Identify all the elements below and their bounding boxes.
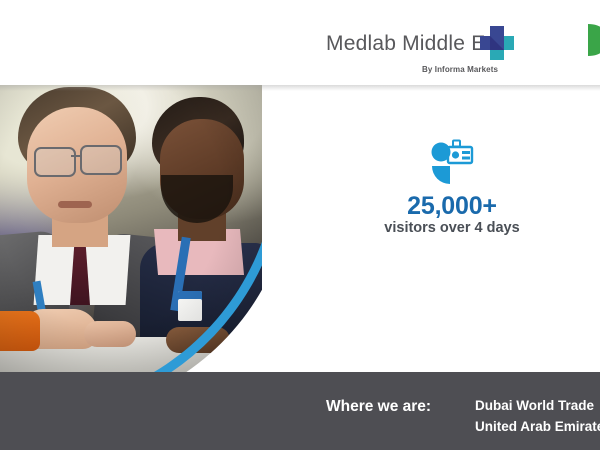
partner-leaf-icon <box>586 22 600 58</box>
stat-visitors-caption: visitors over 4 days <box>357 220 547 236</box>
stat-exhibitors-icon-wrap <box>547 131 600 193</box>
venue-address-line-1: Dubai World Trade <box>475 396 600 417</box>
medical-cross-icon <box>477 23 517 63</box>
stat-visitors-value: 25,000+ <box>357 193 547 219</box>
visitor-badge-icon <box>427 139 477 185</box>
stat-exhibitors-value: 5 <box>547 193 600 219</box>
venue-address: Dubai World Trade United Arab Emirate <box>475 396 600 437</box>
stat-visitors: 25,000+ visitors over 4 days <box>357 131 547 236</box>
hero-photo-clip <box>0 85 262 372</box>
stat-exhibitors: 5 ex <box>547 131 600 236</box>
header-divider <box>0 84 600 91</box>
stat-visitors-icon-wrap <box>357 131 547 193</box>
hero-photo-panel <box>0 85 262 372</box>
stat-exhibitors-caption: ex <box>547 220 600 236</box>
stats-content-area: 25,000+ visitors over 4 days 5 ex <box>262 91 600 372</box>
photo-vignette-overlay <box>0 85 262 372</box>
partner-logo-right[interactable] <box>586 22 600 58</box>
header-bar: Medlab Middle East By Informa Markets <box>0 0 600 85</box>
where-we-are-label: Where we are: <box>326 398 431 416</box>
venue-address-line-2: United Arab Emirate <box>475 417 600 438</box>
brand-byline: By Informa Markets <box>422 65 498 74</box>
hero-photo-image <box>0 85 262 372</box>
brand-logo[interactable]: Medlab Middle East By Informa Markets <box>326 26 526 78</box>
